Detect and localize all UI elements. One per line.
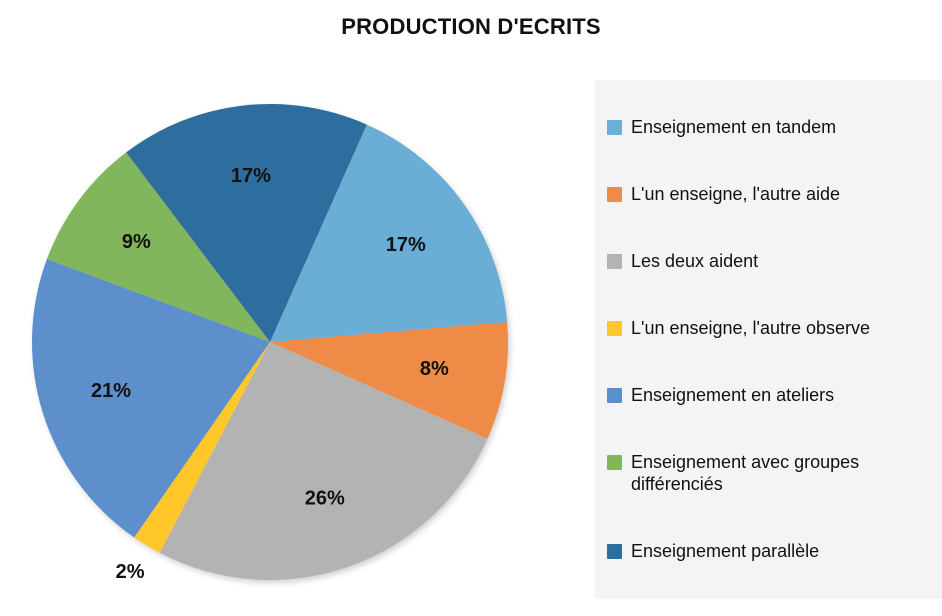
legend-item[interactable]: L'un enseigne, l'autre aide [607,184,932,205]
legend-color-swatch [607,254,622,269]
legend-item-label: Enseignement parallèle [631,541,819,562]
legend-color-swatch [607,321,622,336]
legend-color-swatch [607,187,622,202]
pie-slice-label: 21% [91,380,131,402]
pie-chart-svg: 17%8%26%2%21%9%17% [10,70,570,610]
pie-slice-label: 17% [386,234,426,256]
pie-slice-label: 8% [420,358,449,380]
legend-color-swatch [607,388,622,403]
legend-item[interactable]: Enseignement avec groupes différenciés [607,452,932,494]
legend-item-label: Enseignement en tandem [631,117,836,138]
chart-legend: Enseignement en tandemL'un enseigne, l'a… [595,80,942,599]
pie-slice-label: 17% [231,165,271,187]
legend-item-label: L'un enseigne, l'autre observe [631,318,870,339]
chart-title: PRODUCTION D'ECRITS [0,14,942,40]
legend-item[interactable]: Les deux aident [607,251,932,272]
pie-slice-label: 26% [305,488,345,510]
pie-slice-label: 9% [122,231,151,253]
legend-item-label: L'un enseigne, l'autre aide [631,184,840,205]
legend-item-label: Enseignement en ateliers [631,385,834,406]
pie-slice-label: 2% [116,561,145,583]
legend-item-label: Les deux aident [631,251,758,272]
chart-page: PRODUCTION D'ECRITS 17%8%26%2%21%9%17% E… [0,0,942,616]
legend-item[interactable]: Enseignement en tandem [607,117,932,138]
legend-item[interactable]: L'un enseigne, l'autre observe [607,318,932,339]
legend-color-swatch [607,544,622,559]
pie-chart-area: 17%8%26%2%21%9%17% [10,70,570,610]
legend-item-label: Enseignement avec groupes différenciés [631,452,932,494]
legend-item[interactable]: Enseignement en ateliers [607,385,932,406]
legend-color-swatch [607,120,622,135]
legend-color-swatch [607,455,622,470]
legend-item[interactable]: Enseignement parallèle [607,541,932,562]
